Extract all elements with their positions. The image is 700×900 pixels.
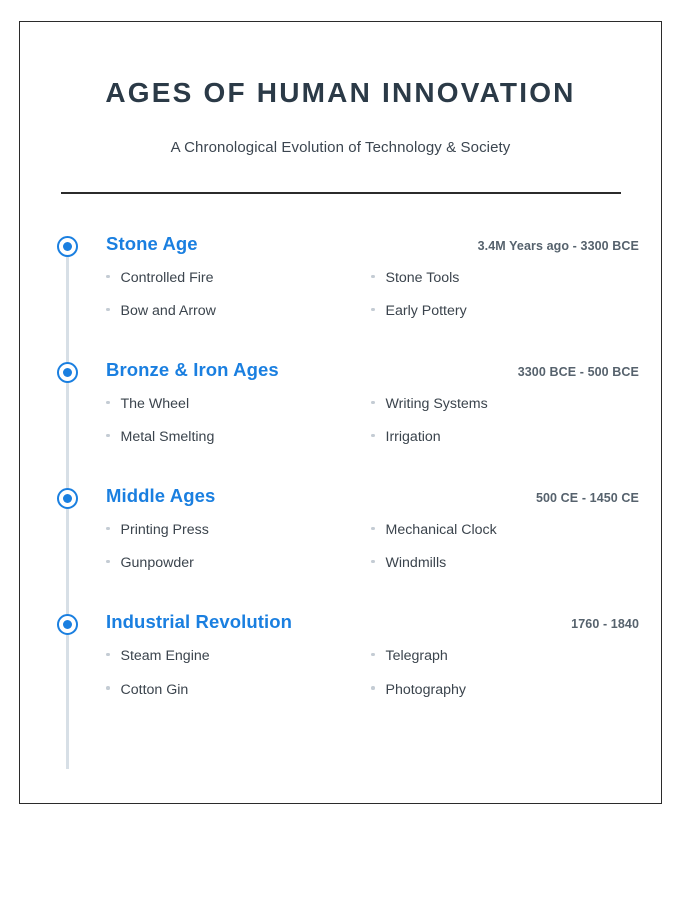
page-subtitle: A Chronological Evolution of Technology …: [20, 139, 661, 156]
era-item: Irrigation: [371, 429, 639, 446]
header-divider: [61, 192, 621, 195]
bullet-icon: [106, 527, 110, 531]
era-item-label: The Wheel: [121, 396, 190, 413]
era-period: 500 CE - 1450 CE: [536, 491, 639, 505]
era-item-list: Controlled FireStone ToolsBow and ArrowE…: [106, 270, 639, 320]
timeline-era: Industrial Revolution1760 - 1840Steam En…: [20, 611, 661, 698]
era-item: The Wheel: [106, 396, 371, 413]
page-title: AGES OF HUMAN INNOVATION: [20, 78, 661, 109]
timeline-node-icon[interactable]: [57, 614, 78, 635]
era-period: 3.4M Years ago - 3300 BCE: [478, 239, 639, 253]
era-item-label: Gunpowder: [121, 555, 194, 572]
era-item-list: Printing PressMechanical ClockGunpowderW…: [106, 522, 639, 572]
timeline-node-icon[interactable]: [57, 362, 78, 383]
era-item: Controlled Fire: [106, 270, 371, 287]
bullet-icon: [106, 275, 110, 279]
era-header-row: Bronze & Iron Ages3300 BCE - 500 BCE: [106, 359, 639, 383]
era-title[interactable]: Stone Age: [106, 233, 198, 255]
bullet-icon: [371, 434, 375, 438]
era-item-label: Printing Press: [121, 522, 209, 539]
era-item-label: Telegraph: [386, 648, 448, 665]
bullet-icon: [371, 308, 375, 312]
era-item-label: Stone Tools: [386, 270, 460, 287]
era-item: Windmills: [371, 555, 639, 572]
era-header-row: Stone Age3.4M Years ago - 3300 BCE: [106, 233, 639, 257]
bullet-icon: [106, 686, 110, 690]
era-item-list: Steam EngineTelegraphCotton GinPhotograp…: [106, 648, 639, 698]
bullet-icon: [106, 401, 110, 405]
era-item-label: Controlled Fire: [121, 270, 214, 287]
era-item-label: Steam Engine: [121, 648, 210, 665]
bullet-icon: [371, 527, 375, 531]
timeline-era: Stone Age3.4M Years ago - 3300 BCEContro…: [20, 233, 661, 320]
era-title[interactable]: Bronze & Iron Ages: [106, 359, 279, 381]
page-canvas: AGES OF HUMAN INNOVATION A Chronological…: [0, 0, 700, 900]
bullet-icon: [371, 275, 375, 279]
timeline-era: Bronze & Iron Ages3300 BCE - 500 BCEThe …: [20, 359, 661, 446]
era-item-label: Metal Smelting: [121, 429, 215, 446]
era-item: Cotton Gin: [106, 682, 371, 699]
era-period: 1760 - 1840: [571, 617, 639, 631]
era-item-label: Irrigation: [386, 429, 441, 446]
timeline-era: Middle Ages500 CE - 1450 CEPrinting Pres…: [20, 485, 661, 572]
era-item: Gunpowder: [106, 555, 371, 572]
era-item: Early Pottery: [371, 303, 639, 320]
era-title[interactable]: Middle Ages: [106, 485, 215, 507]
bullet-icon: [106, 560, 110, 564]
era-item-label: Photography: [386, 682, 466, 699]
era-item: Printing Press: [106, 522, 371, 539]
era-header-row: Middle Ages500 CE - 1450 CE: [106, 485, 639, 509]
era-item: Photography: [371, 682, 639, 699]
era-period: 3300 BCE - 500 BCE: [518, 365, 639, 379]
era-item: Steam Engine: [106, 648, 371, 665]
document-sheet: AGES OF HUMAN INNOVATION A Chronological…: [19, 21, 662, 804]
bullet-icon: [106, 434, 110, 438]
bullet-icon: [371, 653, 375, 657]
era-item-label: Mechanical Clock: [386, 522, 497, 539]
era-item-label: Writing Systems: [386, 396, 488, 413]
bullet-icon: [106, 308, 110, 312]
bullet-icon: [371, 560, 375, 564]
era-item: Stone Tools: [371, 270, 639, 287]
bullet-icon: [106, 653, 110, 657]
document-header: AGES OF HUMAN INNOVATION A Chronological…: [20, 22, 661, 194]
timeline-node-icon[interactable]: [57, 488, 78, 509]
era-item: Mechanical Clock: [371, 522, 639, 539]
timeline-node-icon[interactable]: [57, 236, 78, 257]
bullet-icon: [371, 686, 375, 690]
era-header-row: Industrial Revolution1760 - 1840: [106, 611, 639, 635]
era-item: Writing Systems: [371, 396, 639, 413]
era-item: Telegraph: [371, 648, 639, 665]
era-item-label: Early Pottery: [386, 303, 467, 320]
era-title[interactable]: Industrial Revolution: [106, 611, 292, 633]
era-item: Bow and Arrow: [106, 303, 371, 320]
timeline: Stone Age3.4M Years ago - 3300 BCEContro…: [20, 233, 661, 698]
era-item-list: The WheelWriting SystemsMetal SmeltingIr…: [106, 396, 639, 446]
era-item: Metal Smelting: [106, 429, 371, 446]
bullet-icon: [371, 401, 375, 405]
era-item-label: Windmills: [386, 555, 447, 572]
era-item-label: Cotton Gin: [121, 682, 189, 699]
era-item-label: Bow and Arrow: [121, 303, 216, 320]
